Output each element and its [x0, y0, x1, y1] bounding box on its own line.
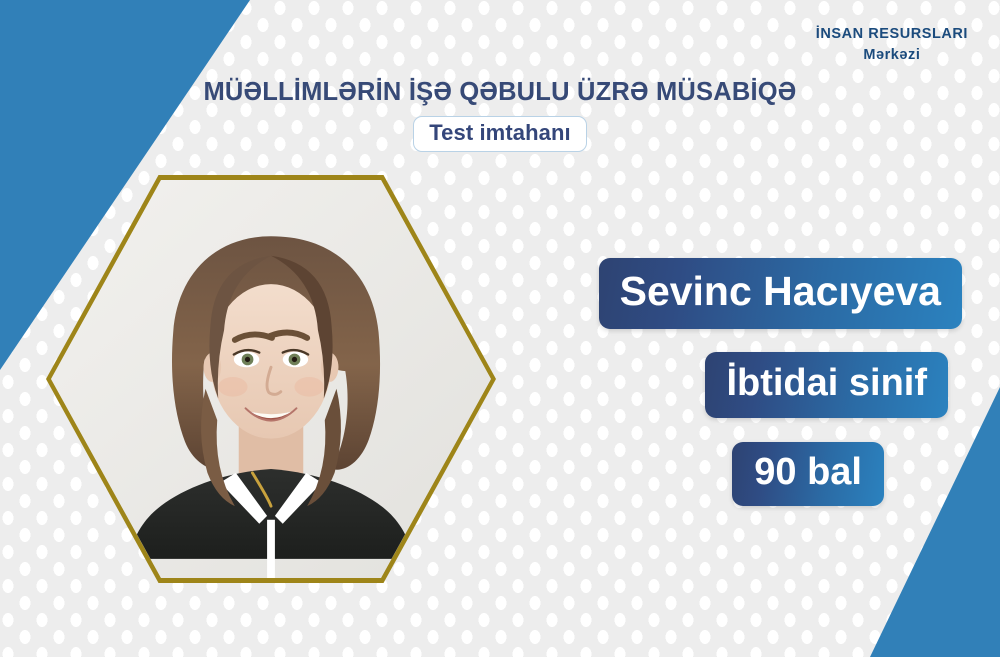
- page-title: MÜƏLLİMLƏRİN İŞƏ QƏBULU ÜZRƏ MÜSABİQƏ: [0, 78, 1000, 107]
- exam-type-badge: Test imtahanı: [413, 116, 586, 152]
- logo-line-secondary: Mərkəzi: [816, 45, 968, 66]
- organisation-logo: İNSAN RESURSLARI Mərkəzi: [816, 24, 968, 66]
- portrait-hexagon-frame: [46, 175, 496, 583]
- logo-line-primary: İNSAN RESURSLARI: [816, 24, 968, 45]
- candidate-info-badges: Sevinc Hacıyeva İbtidai sinif 90 bal: [545, 258, 962, 506]
- candidate-score-badge: 90 bal: [732, 442, 884, 506]
- announcement-card: İNSAN RESURSLARI Mərkəzi MÜƏLLİMLƏRİN İŞ…: [0, 0, 1000, 657]
- heading-block: MÜƏLLİMLƏRİN İŞƏ QƏBULU ÜZRƏ MÜSABİQƏ Te…: [0, 78, 1000, 152]
- candidate-subject-badge: İbtidai sinif: [705, 352, 948, 418]
- candidate-photo: [51, 180, 491, 578]
- candidate-name-badge: Sevinc Hacıyeva: [599, 258, 962, 329]
- hexagon-photo-mask: [51, 180, 491, 578]
